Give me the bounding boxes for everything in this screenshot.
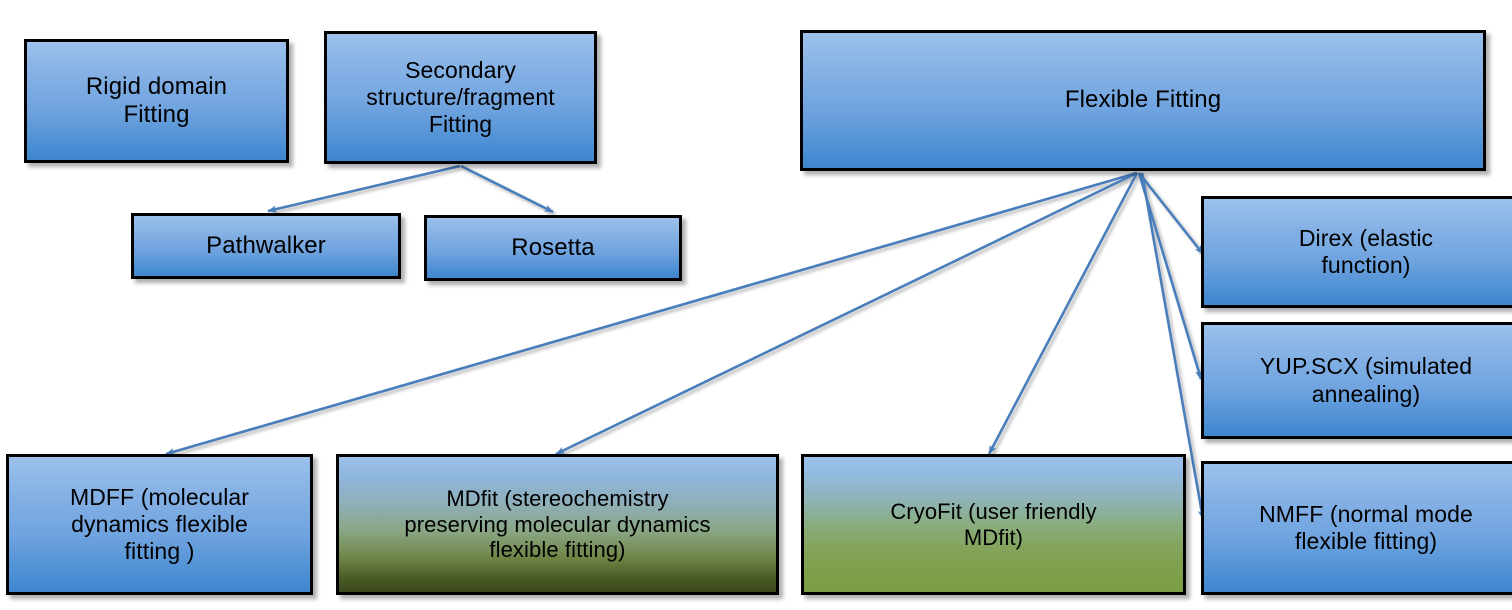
node-yup-scx[interactable]: YUP.SCX (simulated annealing) — [1201, 322, 1512, 439]
node-label: MDFF (molecular dynamics flexible fittin… — [17, 484, 302, 565]
node-nmff[interactable]: NMFF (normal mode flexible fitting) — [1201, 461, 1512, 595]
node-flexible-fitting[interactable]: Flexible Fitting — [800, 30, 1486, 171]
edge-flexible-to-yupscx — [1139, 173, 1201, 379]
node-label: Secondary structure/fragment Fitting — [335, 57, 586, 138]
node-label: Rigid domain Fitting — [35, 73, 278, 130]
node-label: Rosetta — [435, 234, 671, 262]
node-direx[interactable]: Direx (elastic function) — [1201, 196, 1512, 308]
node-cryofit[interactable]: CryoFit (user friendly MDfit) — [801, 454, 1186, 595]
node-label: Direx (elastic function) — [1212, 225, 1512, 279]
node-label: MDfit (stereochemistry preserving molecu… — [347, 486, 768, 564]
diagram-canvas: Rigid domain Fitting Secondary structure… — [0, 0, 1512, 610]
edge-secondary-to-rosetta — [461, 166, 553, 212]
node-label: NMFF (normal mode flexible fitting) — [1212, 501, 1512, 555]
node-label: Flexible Fitting — [811, 86, 1475, 114]
node-mdff[interactable]: MDFF (molecular dynamics flexible fittin… — [6, 454, 313, 595]
node-secondary-structure-fitting[interactable]: Secondary structure/fragment Fitting — [324, 31, 597, 164]
node-rosetta[interactable]: Rosetta — [424, 215, 682, 281]
node-pathwalker[interactable]: Pathwalker — [131, 213, 401, 279]
node-label: YUP.SCX (simulated annealing) — [1212, 353, 1512, 407]
node-label: Pathwalker — [142, 232, 390, 260]
node-mdfit[interactable]: MDfit (stereochemistry preserving molecu… — [336, 454, 779, 595]
edge-flexible-to-cryofit — [989, 173, 1137, 454]
edge-flexible-to-direx — [1139, 173, 1203, 254]
node-rigid-domain-fitting[interactable]: Rigid domain Fitting — [24, 39, 289, 163]
node-label: CryoFit (user friendly MDfit) — [812, 499, 1175, 551]
edge-secondary-to-pathwalker — [268, 166, 460, 211]
